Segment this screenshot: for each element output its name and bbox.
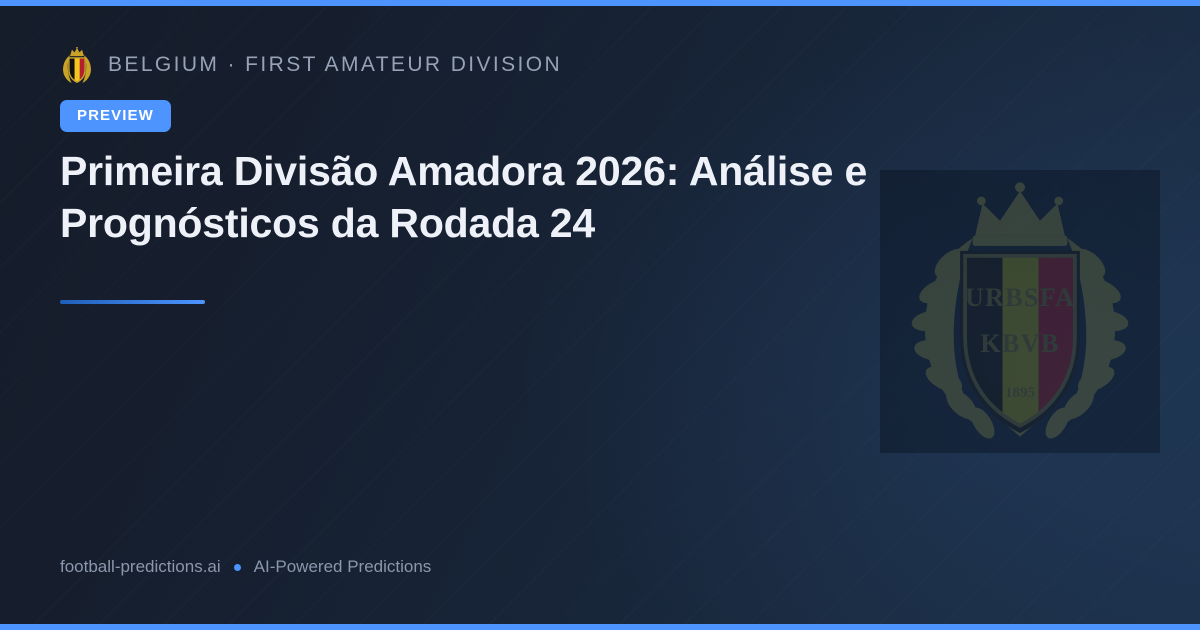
belgium-football-crest-icon bbox=[60, 47, 94, 83]
bullet-dot-icon bbox=[234, 564, 241, 571]
preview-card: URBSFA KBVB 1895 bbox=[0, 0, 1200, 630]
content-column: BELGIUM · FIRST AMATEUR DIVISION PREVIEW… bbox=[60, 0, 920, 630]
footer: football-predictions.ai AI-Powered Predi… bbox=[60, 557, 431, 577]
svg-text:KBVB: KBVB bbox=[980, 328, 1059, 357]
title-accent-underline bbox=[60, 300, 205, 304]
page-title: Primeira Divisão Amadora 2026: Análise e… bbox=[60, 145, 1020, 249]
league-header: BELGIUM · FIRST AMATEUR DIVISION bbox=[60, 47, 562, 83]
svg-text:1895: 1895 bbox=[1005, 384, 1035, 400]
league-name-label: BELGIUM · FIRST AMATEUR DIVISION bbox=[108, 53, 562, 77]
site-name: football-predictions.ai bbox=[60, 557, 221, 577]
svg-text:URBSFA: URBSFA bbox=[965, 282, 1075, 311]
top-accent-bar bbox=[0, 0, 1200, 6]
footer-tagline: AI-Powered Predictions bbox=[254, 557, 432, 577]
status-badge: PREVIEW bbox=[60, 100, 171, 132]
bottom-accent-bar bbox=[0, 624, 1200, 630]
